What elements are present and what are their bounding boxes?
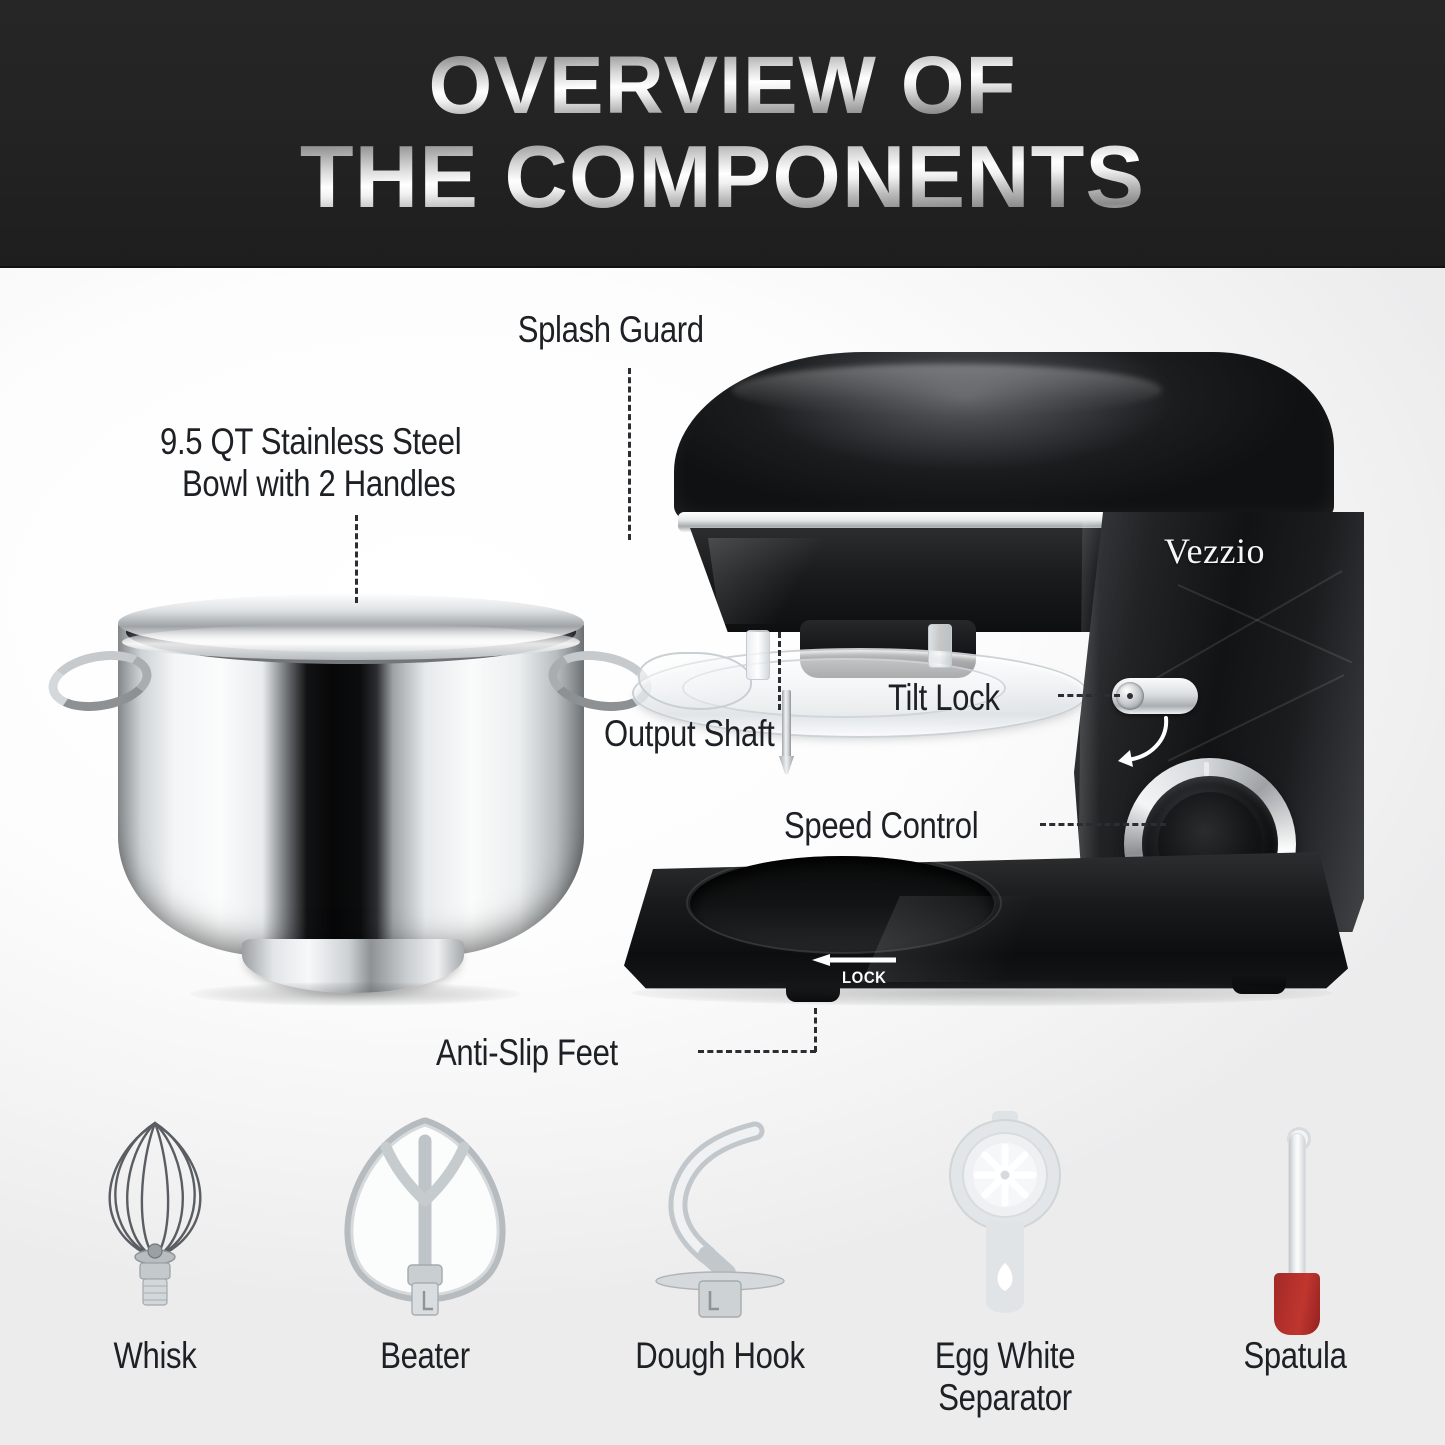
banner-title-line2: THE COMPONENTS — [300, 134, 1145, 220]
callout-label-output-shaft: Output Shaft — [604, 712, 774, 755]
accessories-row: Whisk Beater — [0, 1105, 1445, 1445]
bowl-body — [118, 616, 584, 956]
leader-anti-slip-feet-vertical — [814, 1008, 817, 1052]
splash-guard-post-right — [928, 624, 952, 668]
callout-label-speed-control: Speed Control — [784, 804, 978, 847]
accessory-label-beater: Beater — [320, 1335, 530, 1377]
callout-label-bowl-line2: Bowl with 2 Handles — [182, 462, 455, 505]
egg-white-separator-icon — [880, 1105, 1130, 1335]
leader-speed-control — [1040, 823, 1166, 826]
accessory-beater: Beater — [300, 1105, 550, 1377]
whisk-illustration — [30, 1105, 280, 1335]
accessory-whisk: Whisk — [30, 1105, 280, 1377]
speed-control-indicator-mark — [1204, 762, 1209, 776]
accessory-label-spatula: Spatula — [1190, 1335, 1400, 1377]
accessory-label-egg-white-separator-line1: Egg White — [900, 1335, 1110, 1377]
mixer-head-highlight — [732, 364, 1162, 416]
dough-hook-icon — [595, 1105, 845, 1335]
callout-label-splash-guard: Splash Guard — [518, 308, 704, 351]
beater-icon — [300, 1105, 550, 1335]
output-shaft-tip — [779, 756, 794, 774]
lock-arrow-icon — [812, 954, 896, 966]
whisk-icon — [30, 1105, 280, 1335]
callout-label-anti-slip-feet: Anti-Slip Feet — [436, 1031, 618, 1074]
beater-illustration — [300, 1105, 550, 1335]
stainless-steel-bowl — [70, 594, 630, 1024]
leader-anti-slip-feet-horizontal — [698, 1050, 816, 1053]
dough-hook-illustration — [595, 1105, 845, 1335]
mixer-shadow — [632, 980, 1332, 1006]
leader-tilt-lock — [1058, 694, 1120, 697]
callout-label-tilt-lock: Tilt Lock — [888, 676, 1000, 719]
bowl-rim-lip — [122, 624, 580, 660]
accessory-label-dough-hook: Dough Hook — [615, 1335, 825, 1377]
tilt-rotation-arrow-icon — [1110, 714, 1180, 774]
banner-title-line1: OVERVIEW OF — [428, 46, 1016, 126]
accessory-dough-hook: Dough Hook — [595, 1105, 845, 1377]
leader-output-shaft — [778, 632, 781, 710]
spatula-illustration — [1170, 1105, 1420, 1335]
tilt-lock-screw-icon — [1127, 693, 1133, 699]
splash-guard-post-left — [746, 630, 770, 680]
leader-bowl — [355, 515, 358, 603]
accessory-label-egg-white-separator-line2: Separator — [900, 1377, 1110, 1419]
accessory-spatula: Spatula — [1170, 1105, 1420, 1377]
spatula-silicone-head — [1274, 1273, 1320, 1335]
header-banner: OVERVIEW OF THE COMPONENTS — [0, 0, 1445, 268]
product-infographic: OVERVIEW OF THE COMPONENTS Vezzio — [0, 0, 1445, 1445]
leader-splash-guard — [628, 368, 631, 540]
brand-logo: Vezzio — [1164, 530, 1354, 572]
bowl-shadow — [190, 982, 520, 1006]
callout-label-bowl-line1: 9.5 QT Stainless Steel — [160, 420, 461, 463]
output-shaft — [782, 690, 791, 760]
accessory-egg-white-separator: Egg White Separator — [880, 1105, 1130, 1419]
spatula-handle — [1288, 1133, 1306, 1287]
egg-white-separator-illustration — [880, 1105, 1130, 1335]
accessory-label-whisk: Whisk — [50, 1335, 260, 1377]
